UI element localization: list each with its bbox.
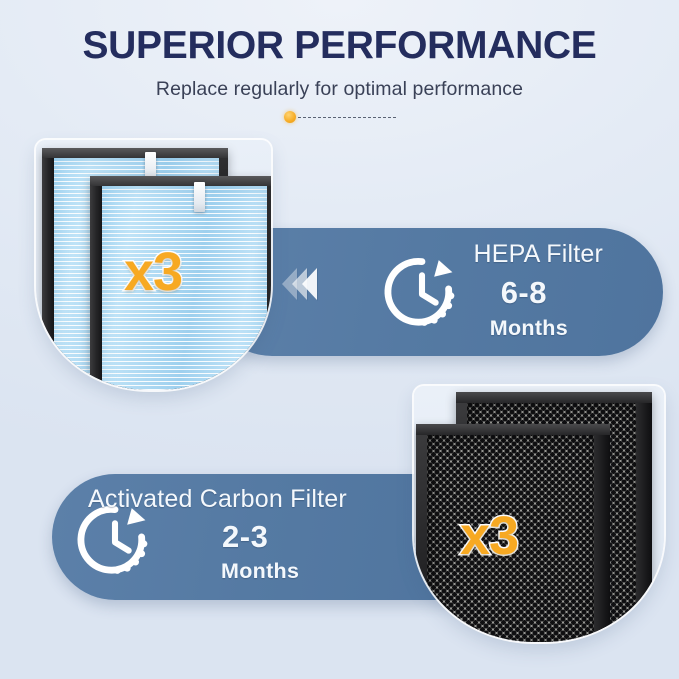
hepa-quantity-badge: x3: [124, 245, 182, 299]
filter-top-edge: [456, 392, 652, 403]
hepa-interval-value: 6-8: [501, 275, 547, 311]
triple-chevron-left-icon: [282, 268, 312, 300]
divider: [0, 110, 679, 124]
divider-dot-icon: [284, 111, 296, 123]
chevron-left-icon: [302, 268, 317, 300]
page-subtitle: Replace regularly for optimal performanc…: [0, 65, 679, 100]
filter-top-edge: [42, 148, 228, 158]
hepa-interval-unit: Months: [490, 316, 568, 341]
clock-arrow-icon: [384, 254, 460, 330]
hepa-filter-name: HEPA Filter: [473, 240, 603, 269]
carbon-quantity-badge: x3: [460, 509, 518, 563]
filter-side-edge: [594, 424, 610, 642]
page-title: SUPERIOR PERFORMANCE: [0, 0, 679, 65]
header: SUPERIOR PERFORMANCE Replace regularly f…: [0, 0, 679, 100]
filter-top-edge: [416, 424, 610, 435]
filter-side-edge: [42, 148, 54, 390]
divider-dashed-line: [298, 117, 396, 118]
infographic-poster: SUPERIOR PERFORMANCE Replace regularly f…: [0, 0, 679, 679]
carbon-interval-unit: Months: [221, 559, 299, 584]
hepa-filter-banner: HEPA Filter 6-8 Months: [208, 228, 663, 356]
filter-pull-tab: [194, 182, 205, 212]
filter-top-edge: [90, 176, 271, 186]
carbon-filter-name: Activated Carbon Filter: [88, 485, 347, 514]
filter-side-edge: [90, 176, 102, 390]
filter-side-edge: [636, 392, 652, 638]
carbon-filter-image: [414, 386, 664, 642]
carbon-interval-value: 2-3: [222, 519, 268, 555]
